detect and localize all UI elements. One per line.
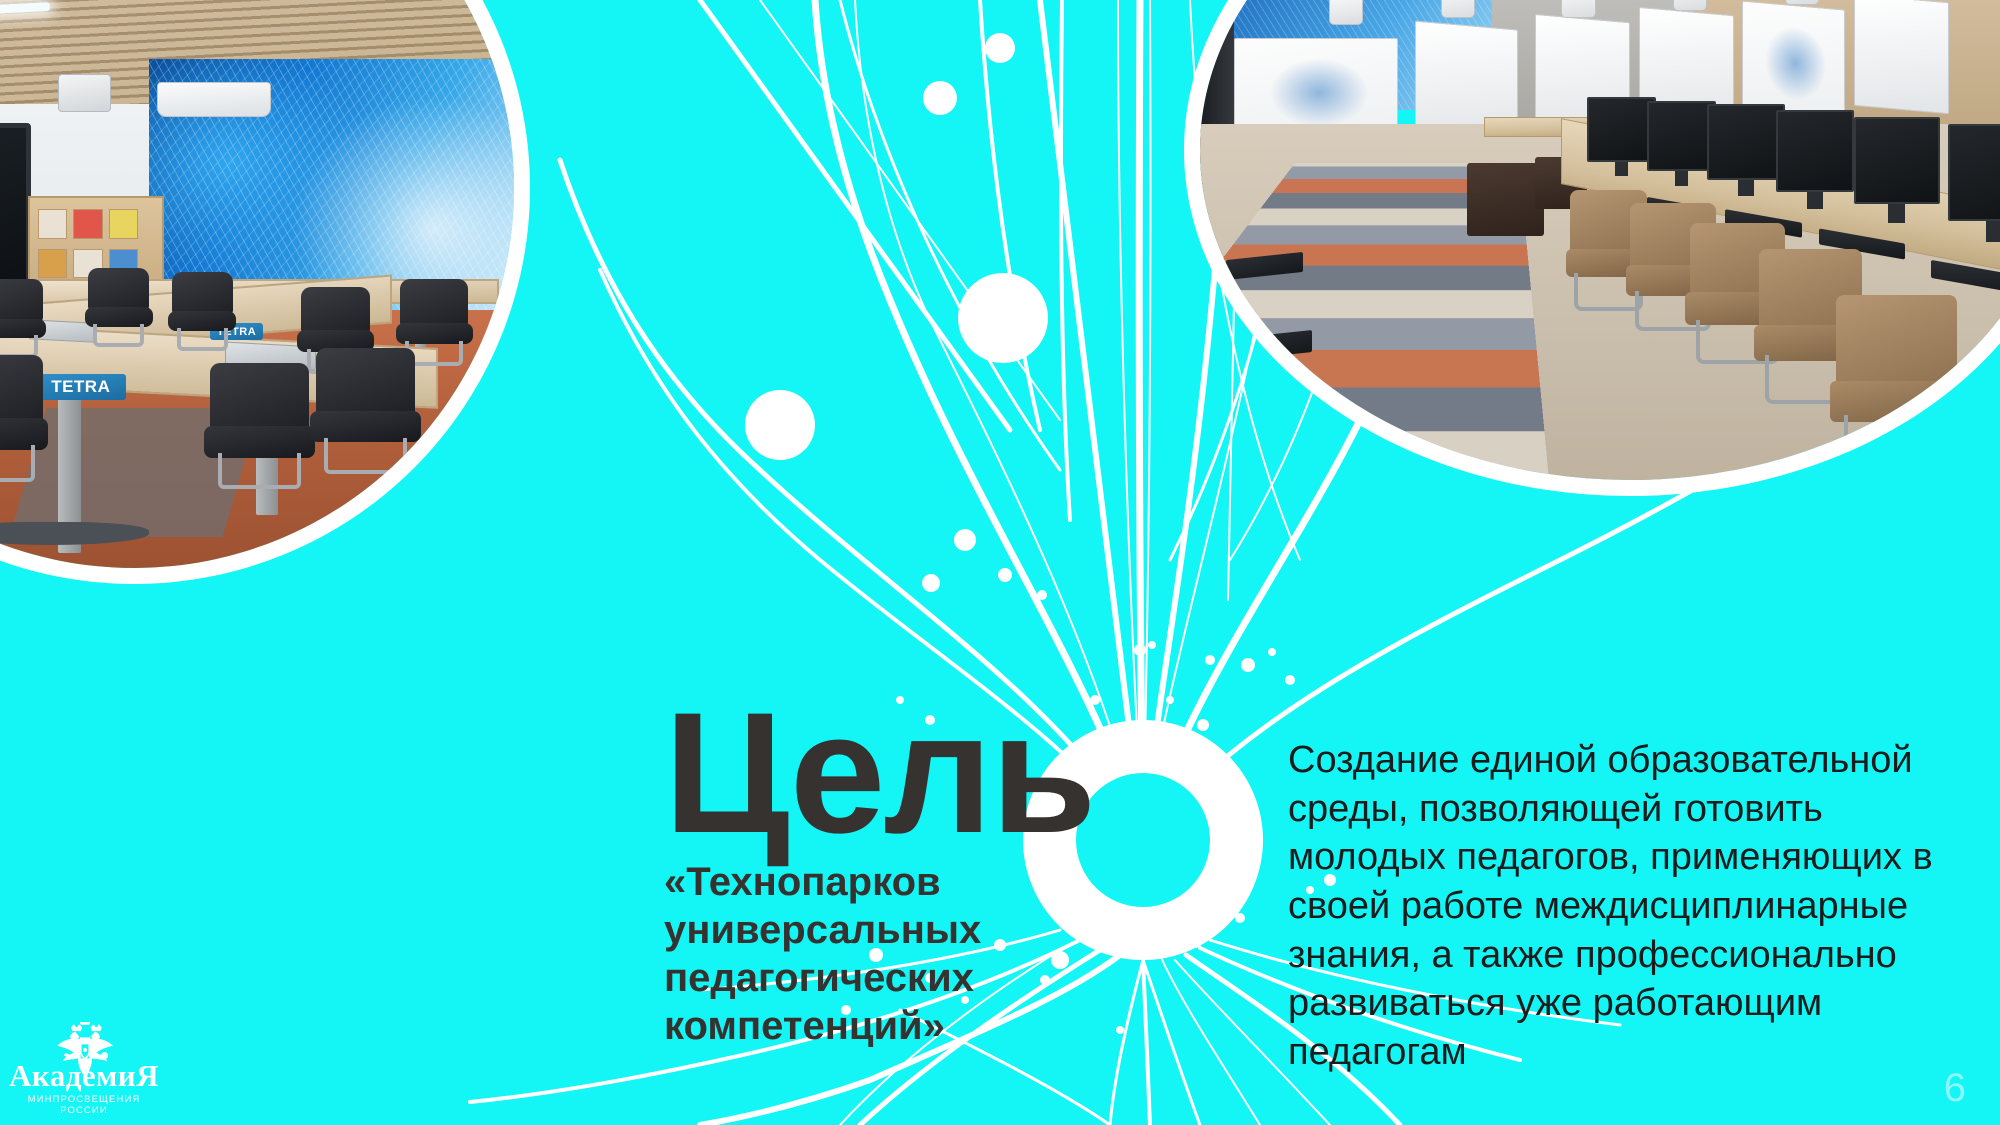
slide-root: TETRA TETRA TETRA [0,0,2000,1125]
monitor [1647,101,1716,187]
monitor [1948,124,2000,243]
chair [0,355,43,477]
overhead-projector [1785,0,1819,5]
photo-classroom-left: TETRA TETRA TETRA [0,0,514,568]
overhead-projector [1673,0,1707,11]
logo-akademiya: АкадемиЯ МИНПРОСВЕЩЕНИЯ РОССИИ [8,1024,160,1116]
photo-computer-lab-right [1200,0,2000,480]
chair [88,268,149,344]
page-title: Цель [664,694,1094,852]
monitor [1707,104,1784,196]
body-paragraph: Создание единой образовательной среды, п… [1288,736,1968,1076]
chair [0,279,43,355]
page-subtitle: «Технопарков универсальных педагогически… [664,858,1024,1050]
air-conditioner [157,82,271,117]
monitor [1854,117,1940,223]
chair [316,348,415,470]
chair [172,272,233,348]
logo-subtitle: МИНПРОСВЕЩЕНИЯ РОССИИ [8,1094,160,1116]
monitor [1776,110,1853,209]
logo-name: АкадемиЯ [8,1060,160,1091]
ottoman [1467,163,1544,236]
overhead-projector [1329,0,1363,25]
page-number: 6 [1944,1066,1966,1111]
tetra-box: TETRA [35,374,126,400]
chair [1836,295,1956,467]
overhead-projector [1441,0,1475,18]
monitor [1587,97,1656,176]
ceiling-projector [58,74,111,112]
chair [210,363,309,485]
overhead-projector [1561,0,1595,18]
drafting-board [1854,0,1949,115]
